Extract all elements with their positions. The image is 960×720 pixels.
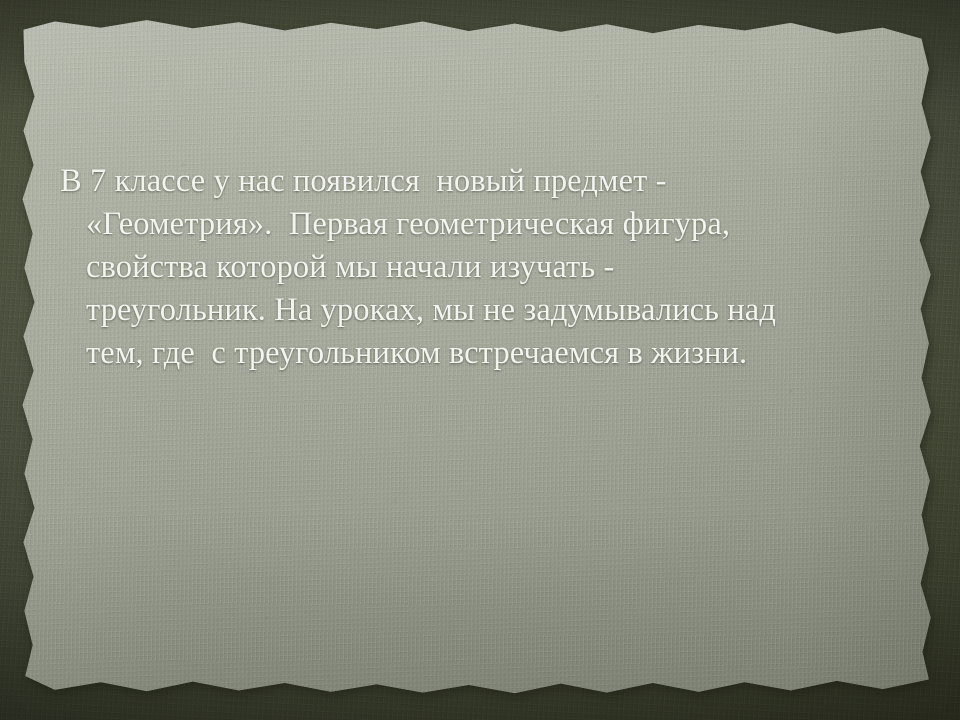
body-line-2: «Геометрия». Первая геометрическая фигур… — [86, 203, 870, 246]
body-line-4: треугольник. На уроках, мы не задумывали… — [86, 289, 870, 332]
presentation-slide: В 7 классе у нас появился новый предмет … — [0, 0, 960, 720]
body-line-3: свойства которой мы начали изучать - — [86, 246, 870, 289]
slide-body-text: В 7 классе у нас появился новый предмет … — [60, 160, 870, 375]
body-line-5: тем, где с треугольником встречаемся в ж… — [86, 332, 870, 375]
body-line-1: В 7 классе у нас появился новый предмет … — [60, 160, 870, 203]
slide-content-placeholder: В 7 классе у нас появился новый предмет … — [60, 160, 870, 375]
